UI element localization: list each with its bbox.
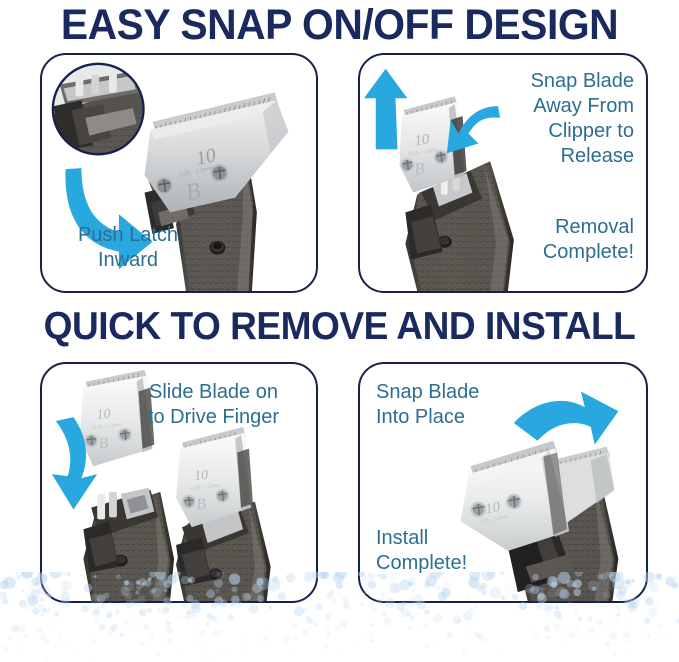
heading-top: EASY SNAP ON/OFF DESIGN xyxy=(17,2,662,48)
panel-snap-blade-into-place: 10 0.25 - 1.2mm Snap Blade Into Place In… xyxy=(358,362,648,603)
caption-snap-blade-into-place: Snap Blade Into Place xyxy=(376,380,541,430)
panel-push-latch-inward: 10 0.25 - 1.2mm B xyxy=(40,53,318,293)
svg-text:10: 10 xyxy=(194,467,209,483)
panel-slide-blade-on: 10 0.25 - 1.2mm B xyxy=(40,362,318,603)
caption-install-complete: Install Complete! xyxy=(376,526,541,576)
svg-text:10: 10 xyxy=(414,131,431,149)
panel-snap-blade-away: 10 0.25 - 1.2mm B xyxy=(358,53,648,293)
caption-removal-complete: Removal Complete! xyxy=(456,215,634,265)
svg-text:10: 10 xyxy=(96,406,111,422)
caption-push-latch-inward: Push Latch Inward xyxy=(48,223,208,273)
heading-bottom: QUICK TO REMOVE AND INSTALL xyxy=(17,306,662,348)
caption-snap-blade-away: Snap Blade Away From Clipper to Release xyxy=(456,69,634,169)
caption-slide-blade-on: Slide Blade on to Drive Finger xyxy=(121,380,306,430)
infographic-page: EASY SNAP ON/OFF DESIGN xyxy=(0,0,679,662)
inset-closeup-circle xyxy=(53,64,145,155)
